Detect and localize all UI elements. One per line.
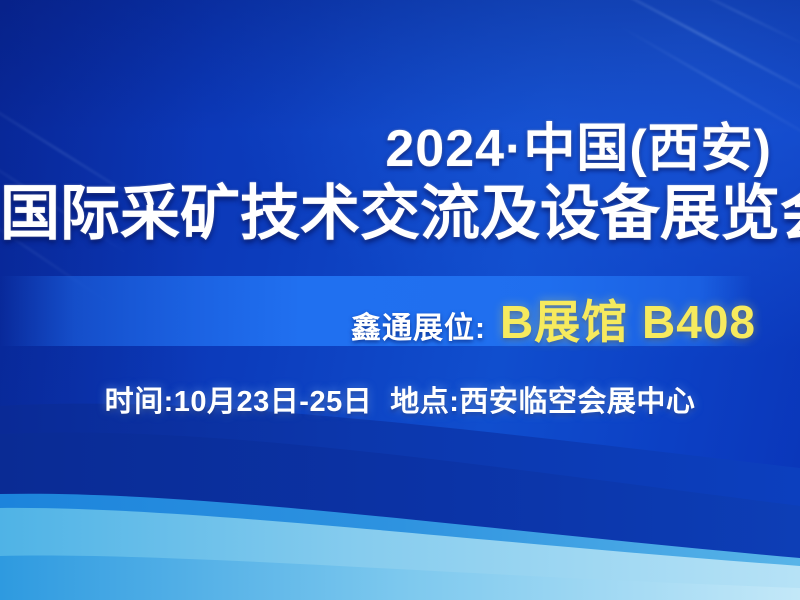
bottom-wave-decoration <box>0 390 800 600</box>
event-time: 时间:10月23日-25日 <box>105 386 373 418</box>
page-title-line-1: 2024·中国(西安) <box>0 122 772 177</box>
page-title-line-2: 国际采矿技术交流及设备展览会 <box>0 182 800 245</box>
exhibition-poster: 2024·中国(西安) 国际采矿技术交流及设备展览会 鑫通展位: B展馆 B40… <box>0 0 800 600</box>
event-venue: 地点:西安临空会展中心 <box>390 386 695 418</box>
booth-number: B展馆 B408 <box>500 286 756 352</box>
event-details-row: 时间:10月23日-25日地点:西安临空会展中心 <box>0 378 800 420</box>
booth-label: 鑫通展位: <box>351 303 486 347</box>
booth-info-row: 鑫通展位: B展馆 B408 <box>0 286 756 352</box>
